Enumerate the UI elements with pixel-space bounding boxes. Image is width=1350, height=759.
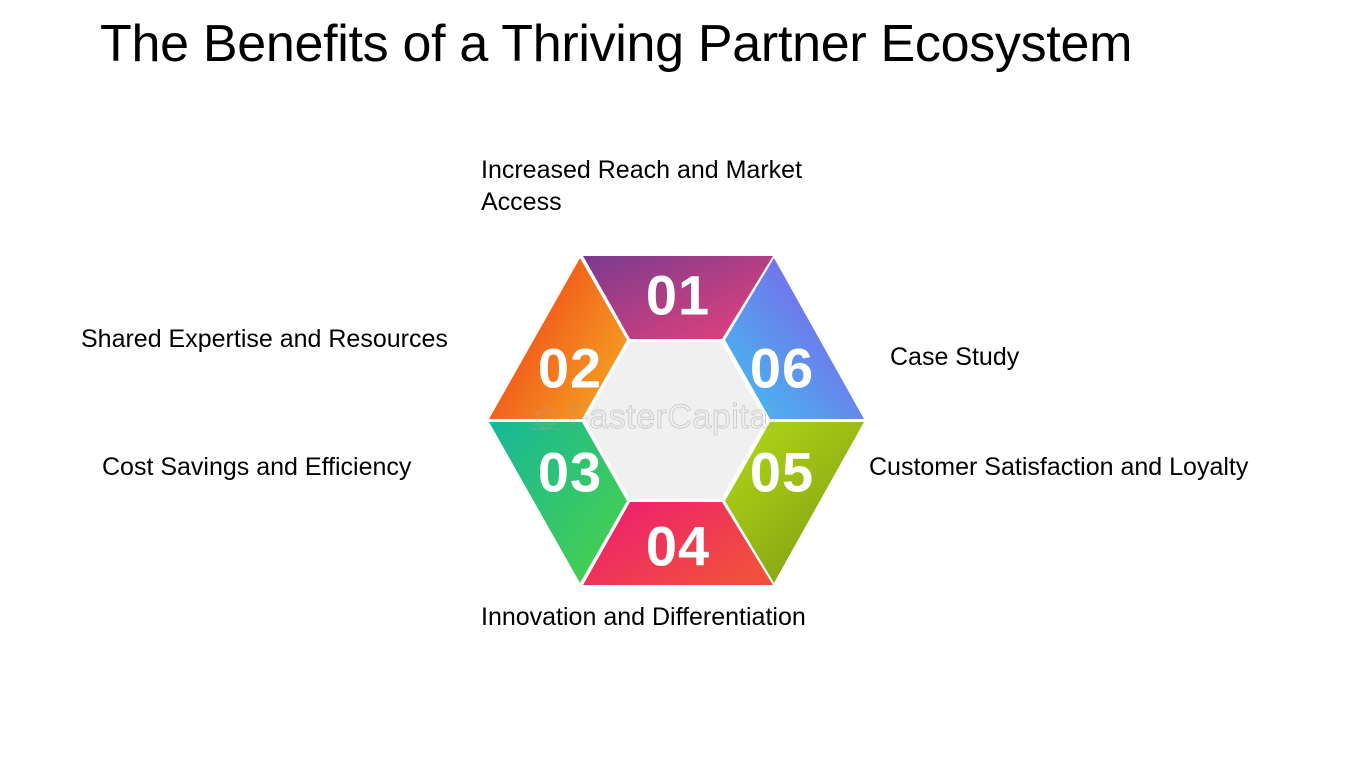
- callout-label-04: Innovation and Differentiation: [481, 601, 841, 633]
- callout-label-06: Case Study: [890, 341, 1190, 373]
- callout-label-05: Customer Satisfaction and Loyalty: [869, 451, 1269, 483]
- hexagon-svg: 01 02 03 04 05 06: [482, 248, 872, 593]
- hex-segment-05-number: 05: [750, 441, 814, 504]
- hex-segment-04-number: 04: [646, 515, 710, 578]
- callout-label-03: Cost Savings and Efficiency: [102, 451, 472, 483]
- hex-segment-02-number: 02: [538, 337, 602, 400]
- page-title: The Benefits of a Thriving Partner Ecosy…: [100, 12, 1250, 78]
- callout-label-01: Increased Reach and Market Access: [481, 154, 881, 218]
- hex-segment-06-number: 06: [750, 337, 814, 400]
- slide-canvas: The Benefits of a Thriving Partner Ecosy…: [0, 0, 1350, 759]
- hex-segment-03-number: 03: [538, 441, 602, 504]
- hex-segment-01-number: 01: [646, 264, 710, 327]
- hexagon-infographic: 01 02 03 04 05 06: [482, 248, 872, 593]
- callout-label-02: Shared Expertise and Resources: [81, 323, 461, 355]
